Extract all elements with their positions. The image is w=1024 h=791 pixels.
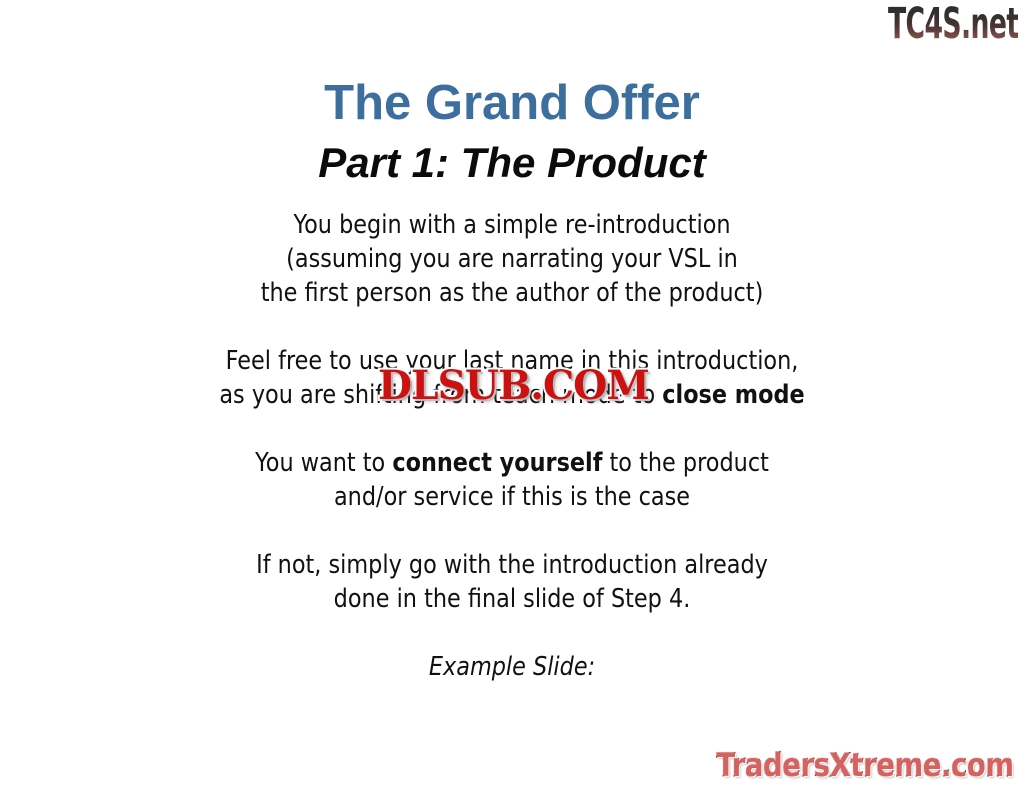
presentation-slide: TC4S.net The Grand Offer Part 1: The Pro… [0,0,1024,791]
paragraph-3-line-1-prefix: You want to [255,448,392,478]
paragraph-4: If not, simply go with the introduction … [0,548,1024,616]
paragraph-3-line-1-emphasis: connect yourself [392,448,602,478]
paragraph-2-line-2-emphasis: close mode [662,380,804,410]
paragraph-spacer-3 [0,514,1024,548]
paragraph-3: You want to connect yourself to the prod… [0,446,1024,514]
closing-note-block: Example Slide: [0,650,1024,684]
paragraph-spacer-1 [0,310,1024,344]
tc4s-net-logo: TC4S.net [888,2,1018,46]
paragraph-1-line-3: the first person as the author of the pr… [72,276,953,310]
paragraph-3-line-1: You want to connect yourself to the prod… [72,446,953,480]
paragraph-1: You begin with a simple re-introduction … [0,208,1024,310]
paragraph-spacer-2 [0,412,1024,446]
page-subtitle: Part 1: The Product [0,140,1024,186]
page-title: The Grand Offer [0,76,1024,130]
tradersxtreme-logo: TradersXtreme.com [717,747,1014,783]
dlsub-watermark: DLSUB.COM [378,366,649,406]
paragraph-3-line-2: and/or service if this is the case [72,480,953,514]
slide-body-content: You begin with a simple re-introduction … [0,208,1024,684]
paragraph-4-line-2: done in the final slide of Step 4. [72,582,953,616]
paragraph-1-line-2: (assuming you are narrating your VSL in [72,242,953,276]
paragraph-spacer-4 [0,616,1024,650]
closing-note: Example Slide: [72,650,953,684]
paragraph-4-line-1: If not, simply go with the introduction … [72,548,953,582]
paragraph-3-line-1-suffix: to the product [602,448,768,478]
paragraph-1-line-1: You begin with a simple re-introduction [72,208,953,242]
